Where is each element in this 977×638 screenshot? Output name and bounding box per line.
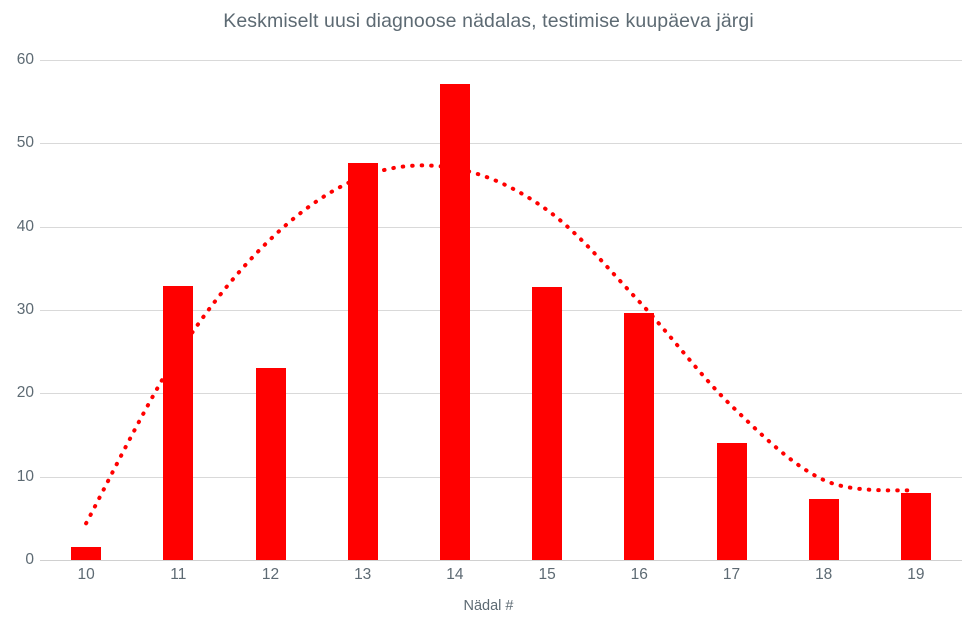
chart-title: Keskmiselt uusi diagnoose nädalas, testi… <box>0 10 977 33</box>
x-axis-line <box>40 560 962 561</box>
y-axis-tick-label: 30 <box>2 301 34 319</box>
y-axis-tick-label: 0 <box>2 551 34 569</box>
y-axis-tick-label: 20 <box>2 384 34 402</box>
trendline-series <box>40 60 962 560</box>
x-axis-tick-label: 15 <box>517 566 577 584</box>
x-axis-title: Nädal # <box>0 598 977 614</box>
y-axis-tick-label: 40 <box>2 218 34 236</box>
x-axis-tick-label: 17 <box>702 566 762 584</box>
x-axis-tick-label: 16 <box>609 566 669 584</box>
y-axis-tick-label: 10 <box>2 468 34 486</box>
y-axis-tick-label: 50 <box>2 134 34 152</box>
x-axis-tick-labels: 10111213141516171819 <box>40 566 962 592</box>
x-axis-tick-label: 12 <box>241 566 301 584</box>
y-axis-tick-label: 60 <box>2 51 34 69</box>
plot-area <box>40 60 962 560</box>
chart-container: Keskmiselt uusi diagnoose nädalas, testi… <box>0 0 977 638</box>
y-axis-tick-labels: 0102030405060 <box>0 60 34 560</box>
x-axis-tick-label: 10 <box>56 566 116 584</box>
x-axis-tick-label: 11 <box>148 566 208 584</box>
x-axis-tick-label: 19 <box>886 566 946 584</box>
x-axis-tick-label: 18 <box>794 566 854 584</box>
x-axis-tick-label: 14 <box>425 566 485 584</box>
x-axis-tick-label: 13 <box>333 566 393 584</box>
trendline-path <box>86 165 916 523</box>
